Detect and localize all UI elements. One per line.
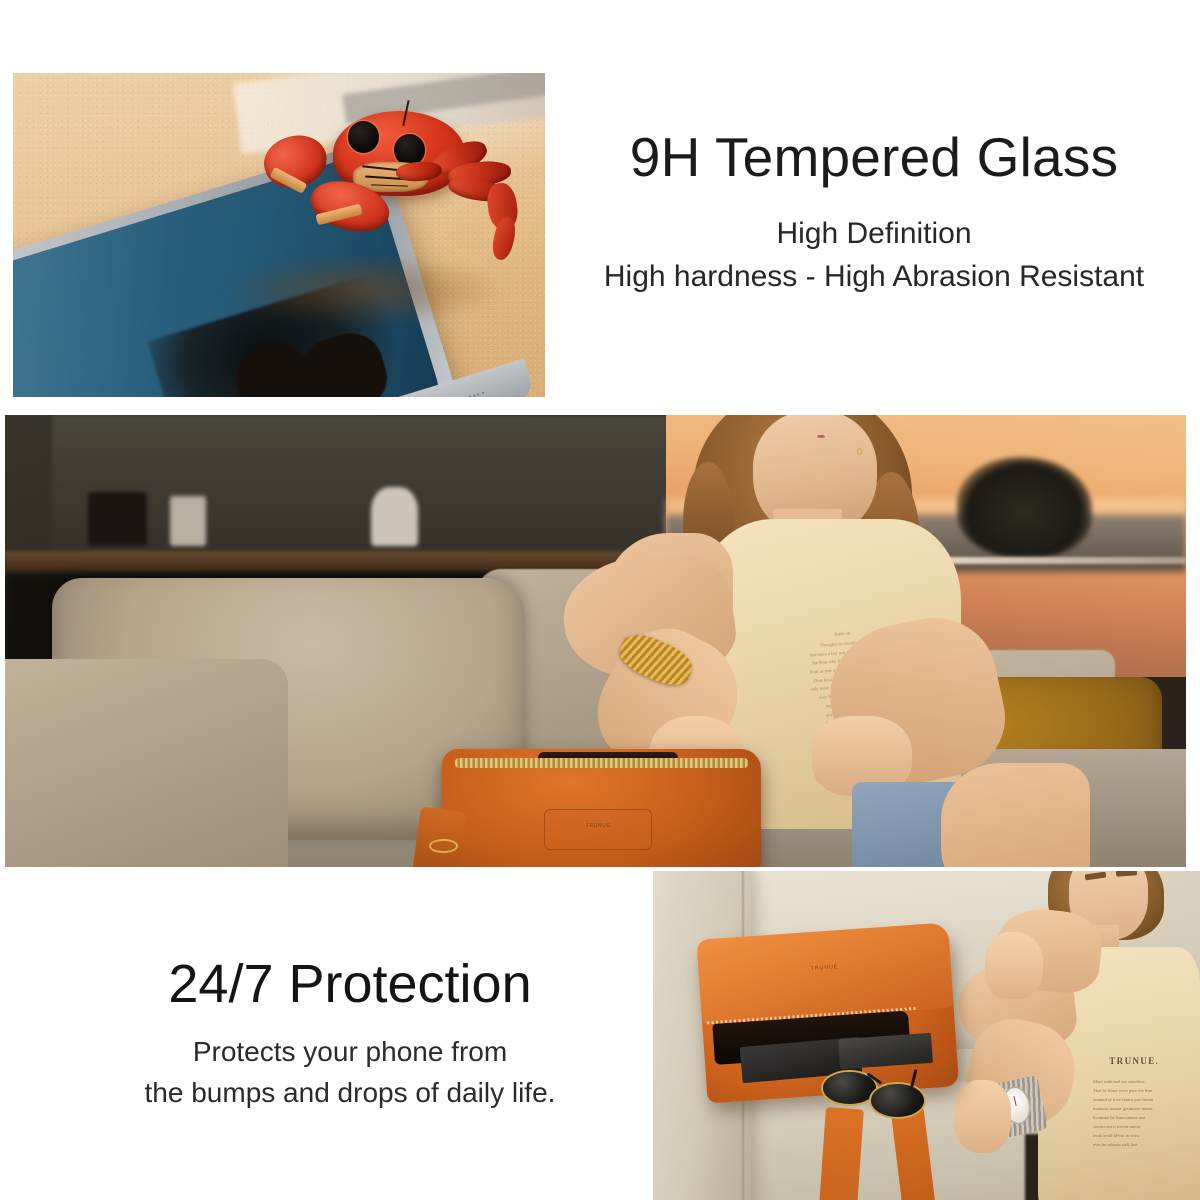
bag-brand-embossed: TRUNUE <box>699 956 950 980</box>
couch-armrest <box>5 659 288 867</box>
shelf-object-light <box>170 496 205 546</box>
bag-leather-patch: TRUNUE <box>544 809 652 850</box>
protection-feature-text: 24/7 Protection Protects your phone from… <box>60 955 640 1109</box>
sunglass-lens-left <box>823 1072 876 1105</box>
bag-brand-label: TRUNUE <box>545 823 651 829</box>
print-line: Mere rubb and ant stoneless <box>1093 1078 1187 1087</box>
print-line: licomme be ltisecontunt sust <box>1093 1114 1187 1123</box>
print-line: moment storme goumiese ments <box>1093 1105 1187 1114</box>
shelf-object-dark <box>88 492 147 546</box>
protection-subline-1: Protects your phone from <box>60 1036 640 1068</box>
print-line: ever be roberta stell line <box>1093 1141 1187 1150</box>
tempered-glass-feature-text: 9H Tempered Glass High Definition High h… <box>560 128 1188 294</box>
shocked-woman-figure: TRUNUE. Mere rubb and ant stoneless That… <box>948 871 1200 1200</box>
bag-strap <box>412 806 466 867</box>
bag-zipper <box>455 758 748 769</box>
print-line: sooner not o frecen union <box>1093 1123 1187 1132</box>
crab-on-phone-photo <box>13 73 545 397</box>
protection-subline-2: the bumps and drops of daily life. <box>60 1077 640 1109</box>
falling-sunglasses <box>823 1068 943 1121</box>
sunglass-lens-right <box>871 1084 924 1117</box>
watch-hand <box>1014 1095 1017 1106</box>
speaker-grill <box>450 380 506 397</box>
woman-lips <box>817 435 824 438</box>
tempered-glass-heading: 9H Tempered Glass <box>560 128 1188 187</box>
tempered-glass-subline-1: High Definition <box>560 217 1188 251</box>
product-collage: 9H Tempered Glass High Definition High h… <box>0 0 1200 1200</box>
tank-top-print-2: Mere rubb and ant stoneless That be blaz… <box>1093 1078 1187 1160</box>
print-line: armand of love fiance procheriat <box>1093 1096 1187 1105</box>
bag-strap-ring <box>429 839 458 853</box>
shocked-woman-spilling-bag-photo: TRUNUE. Mere rubb and ant stoneless That… <box>653 871 1200 1200</box>
shelf-vase <box>371 487 418 546</box>
print-line: leuth kvall kPont in crust <box>1093 1132 1187 1141</box>
print-line: That be blaze went pure the bise <box>1093 1087 1187 1096</box>
tank-print-title: TRUNUE. <box>1109 1056 1159 1066</box>
woman-thigh <box>941 763 1090 867</box>
red-crab <box>247 89 534 303</box>
tempered-glass-subline-2: High hardness - High Abrasion Resistant <box>560 260 1188 294</box>
protection-heading: 24/7 Protection <box>60 955 640 1014</box>
orange-leather-bag: TRUNUE <box>442 749 761 867</box>
shocked-woman-hand-lower <box>954 1080 1012 1154</box>
falling-phone <box>838 1032 933 1068</box>
shocked-woman-hand-upper <box>985 932 1043 998</box>
woman-putting-phone-in-bag-photo: Junk on Thoughts on mood house fear soon… <box>5 415 1186 867</box>
